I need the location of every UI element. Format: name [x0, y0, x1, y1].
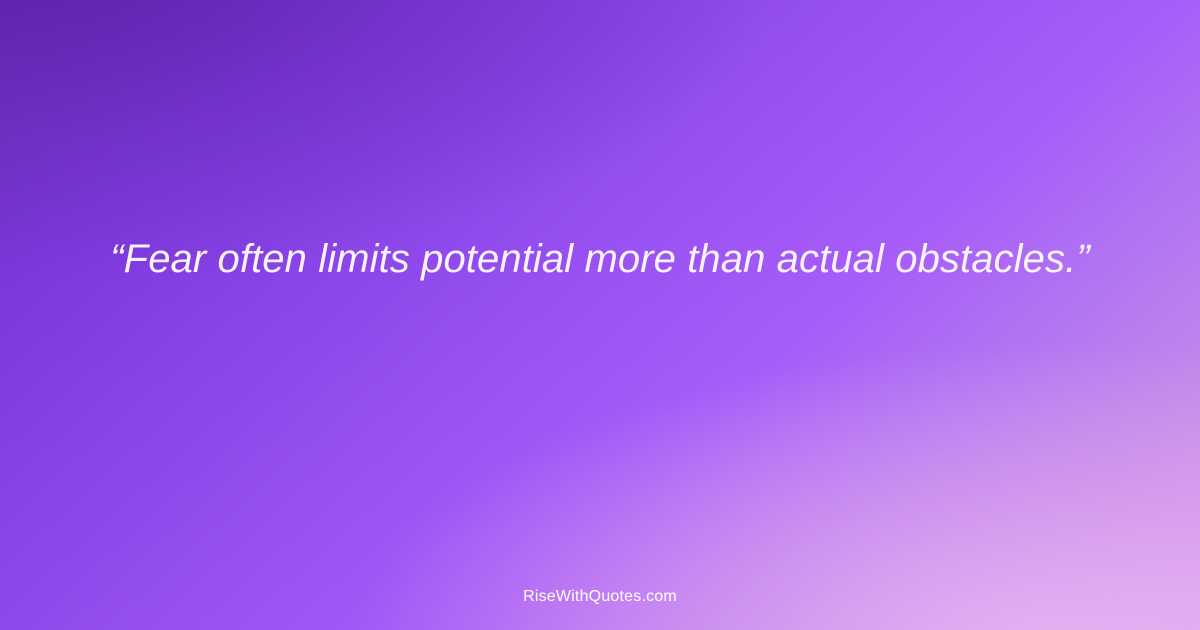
- quote-text: “Fear often limits potential more than a…: [110, 232, 1090, 286]
- quote-block: “Fear often limits potential more than a…: [0, 0, 1200, 630]
- footer-brand: RiseWithQuotes.com: [0, 588, 1200, 606]
- brand-name: RiseWithQuotes.com: [523, 588, 677, 606]
- quote-card: “Fear often limits potential more than a…: [0, 0, 1200, 630]
